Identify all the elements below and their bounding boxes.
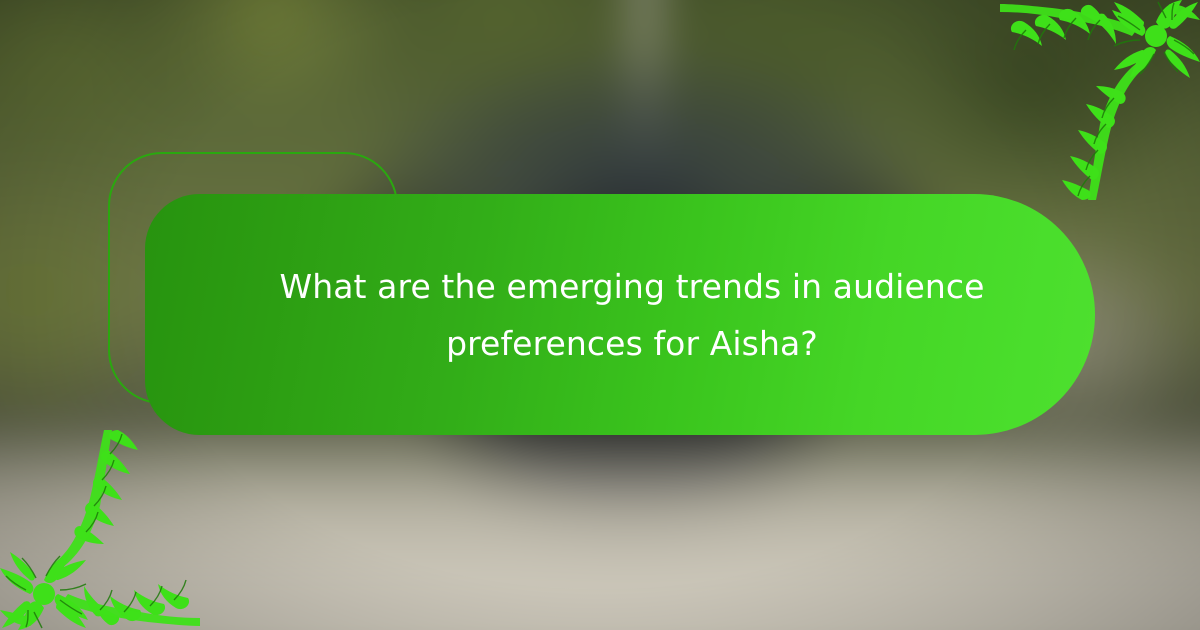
question-text: What are the emerging trends in audience… xyxy=(262,258,1002,372)
screenshot-stage: What are the emerging trends in audience… xyxy=(0,0,1200,630)
floral-corner-ornament-bottom-left xyxy=(0,430,200,630)
floral-corner-ornament-top-right xyxy=(1000,0,1200,200)
question-card[interactable]: What are the emerging trends in audience… xyxy=(145,194,1095,435)
